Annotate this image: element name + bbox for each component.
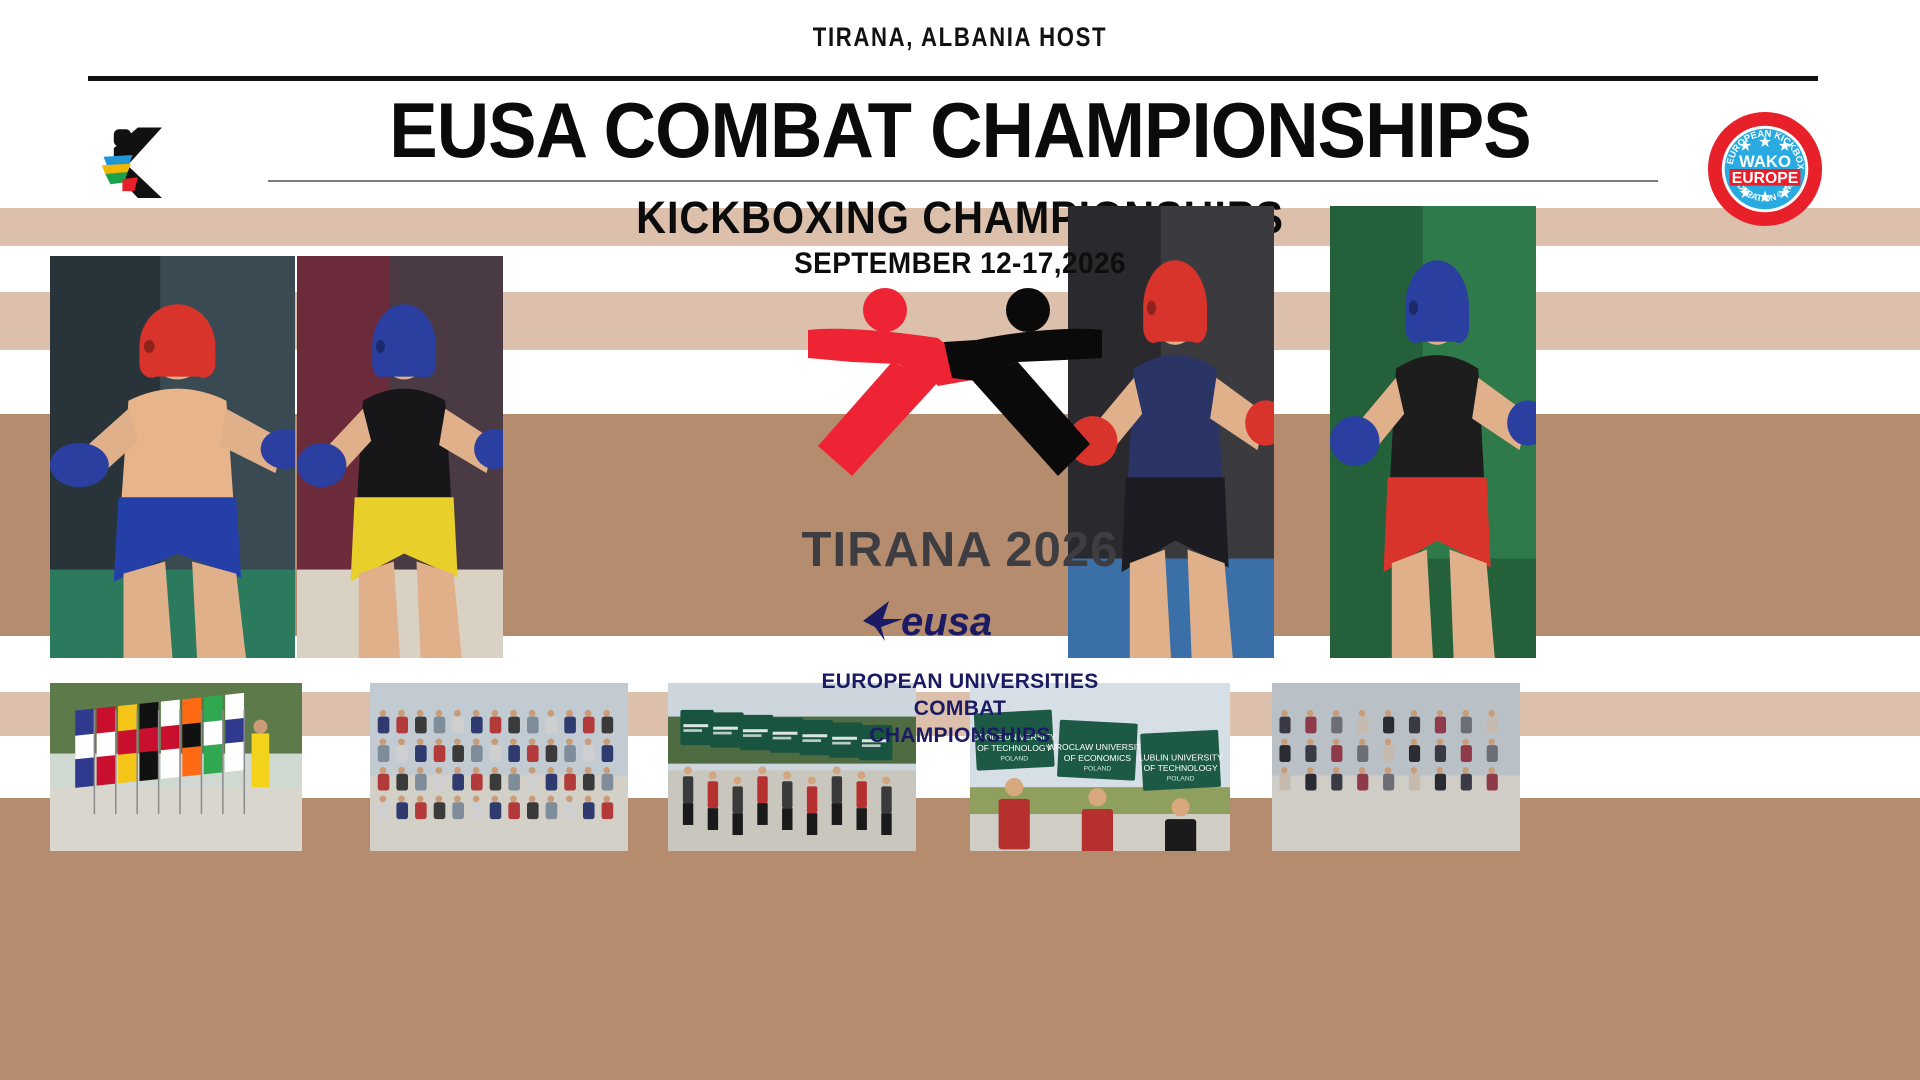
figure-black [944,288,1102,476]
page-subtitle: KICKBOXING CHAMPIONSHIPS [77,192,1843,244]
svg-text:OF ECONOMICS: OF ECONOMICS [1064,753,1131,763]
svg-text:POLAND: POLAND [1000,755,1028,762]
eusa-subtitle-line1: EUROPEAN UNIVERSITIES [0,668,1920,695]
background-stripe-9 [0,948,1920,1080]
wako-center-line2: EUROPE [1732,170,1798,187]
athlete-photo-blue-headgear-female-everlast [297,256,503,658]
wako-europe-logo: EUROPEAN KICKBOXING FEDERATION © WAKO WA… [1706,110,1824,228]
eusa-subtitle-line2: COMBAT [0,695,1920,722]
header-divider-thin [268,180,1658,182]
svg-text:POLAND: POLAND [1084,765,1112,772]
two-combat-figures-emblem [780,282,1110,482]
page-title: EUSA COMBAT CHAMPIONSHIPS [67,92,1853,168]
wako-center-line1: WAKO [1739,152,1791,171]
figure-red [808,288,972,476]
eusa-logo: eusa [855,595,1065,645]
svg-text:LUBLIN UNIVERSITY: LUBLIN UNIVERSITY [1139,752,1223,762]
kickboxing-k-logo [88,112,174,198]
eusa-subtitle-line3: CHAMPIONSHIPS [0,722,1920,749]
svg-text:POLAND: POLAND [1167,775,1195,782]
host-city-year: TIRANA 2026 [0,522,1920,578]
poster-root: TIRANA, ALBANIA HOST EUSA COMBAT CHAMPIO… [0,0,1920,1080]
svg-text:OF TECHNOLOGY: OF TECHNOLOGY [1143,763,1217,773]
host-line: TIRANA, ALBANIA HOST [173,22,1747,53]
athlete-photo-red-headgear-male [50,256,295,658]
eusa-subtitle: EUROPEAN UNIVERSITIES COMBAT CHAMPIONSHI… [0,668,1920,749]
eusa-wordmark: eusa [901,600,992,644]
header-divider-thick [88,76,1818,81]
event-date: SEPTEMBER 12-17,2026 [67,247,1853,281]
